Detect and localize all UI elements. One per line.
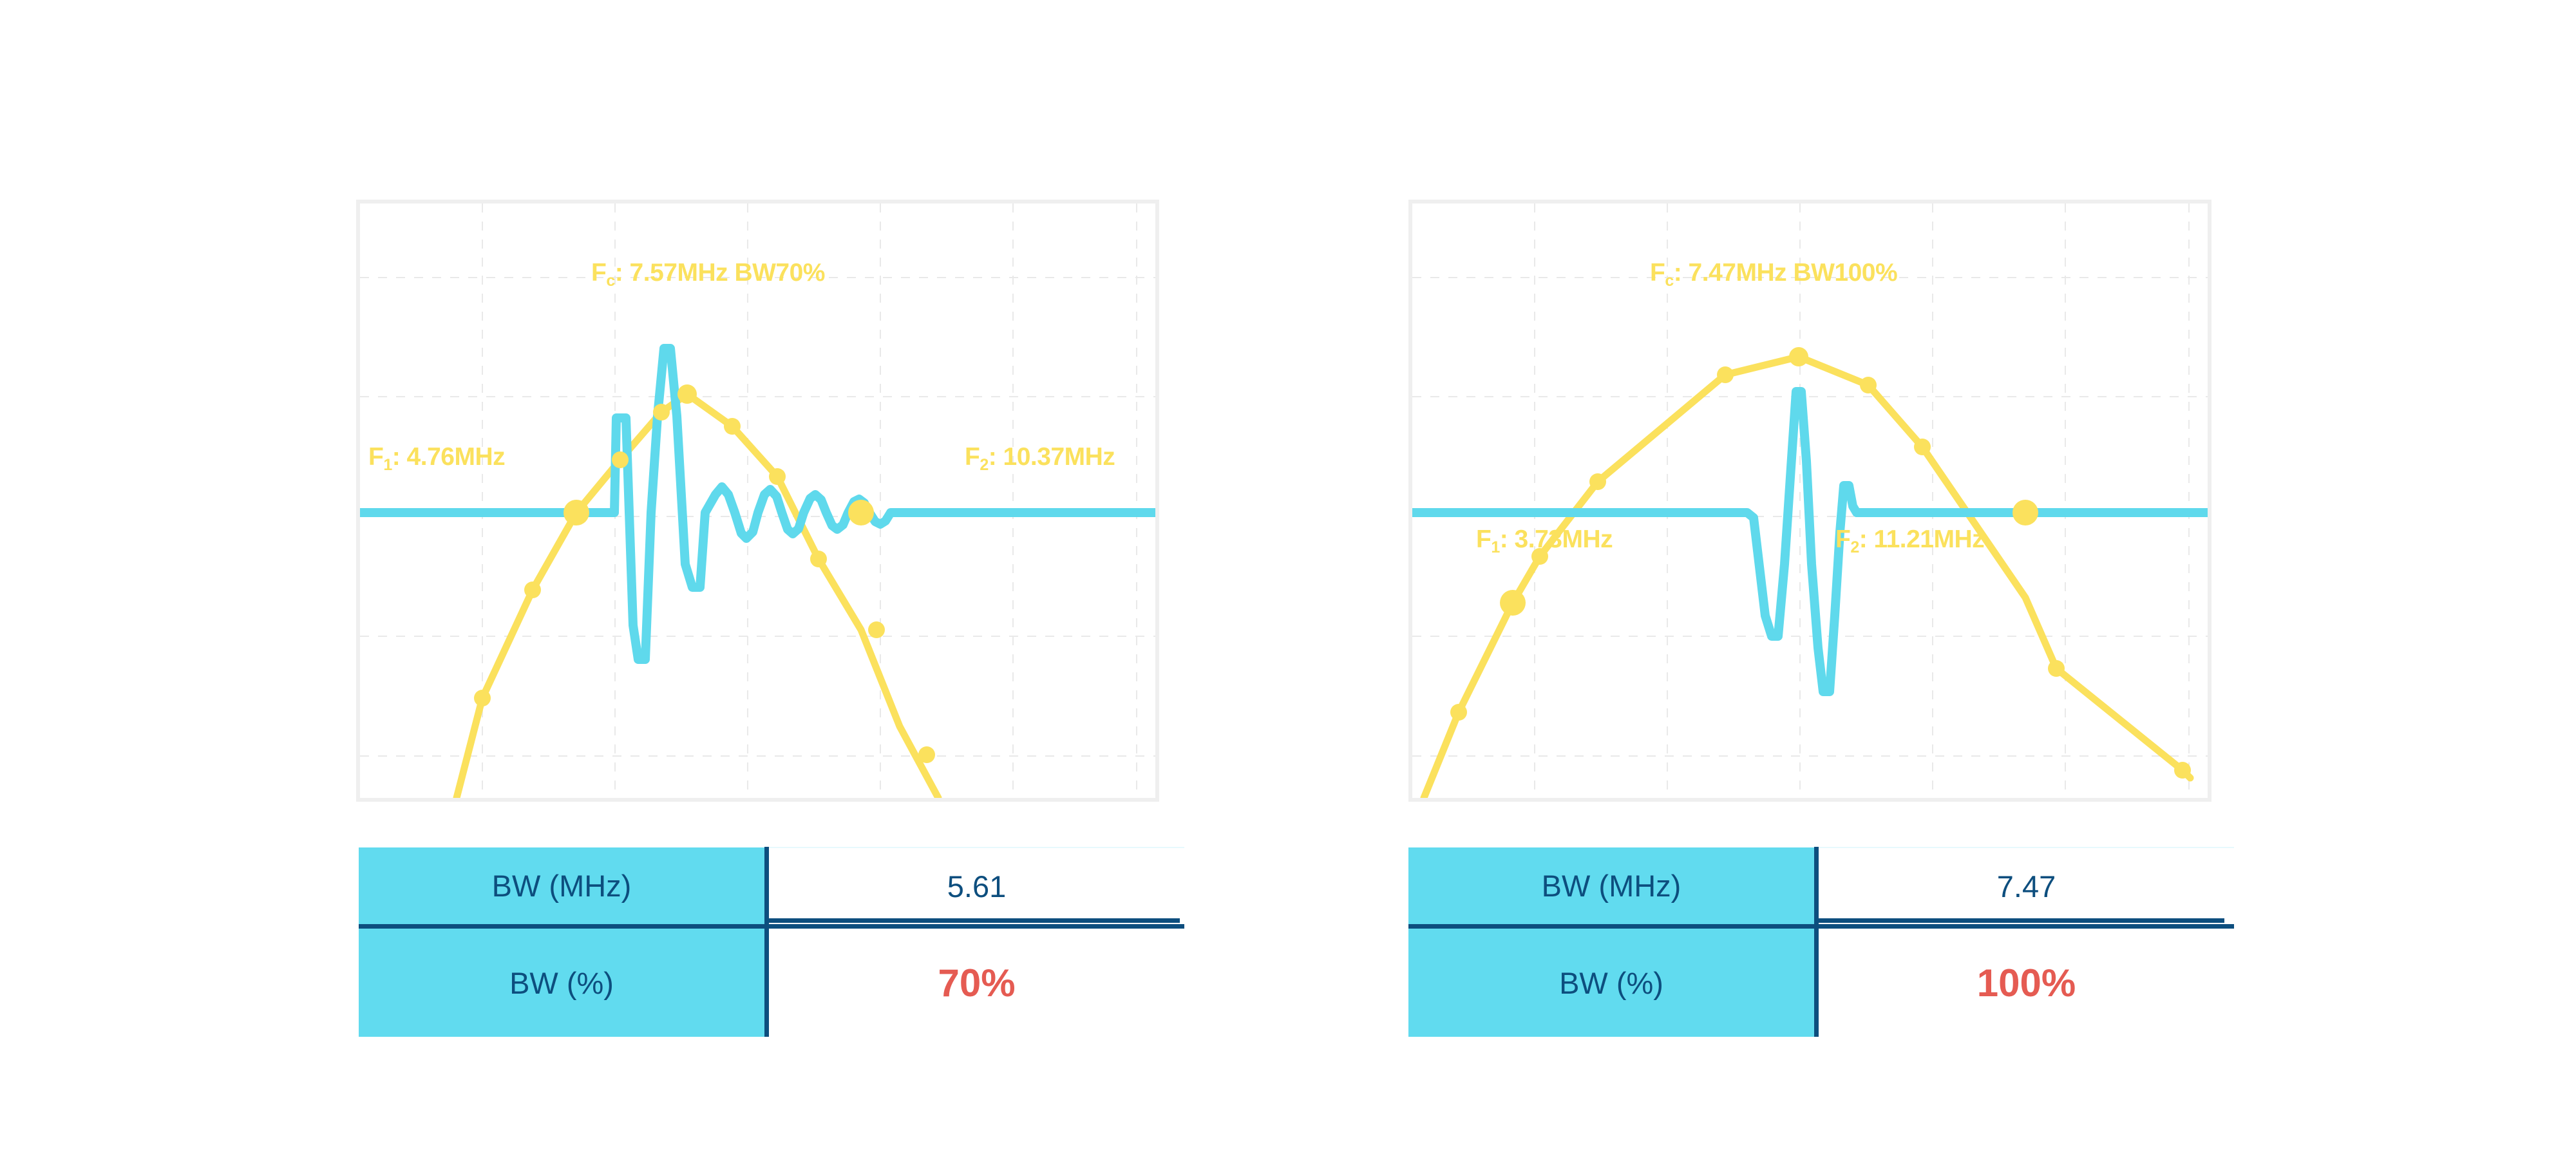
spectrum-chart-100-svg [1412,203,2208,798]
spectrum-chart-70 [356,200,1159,802]
table-row: BW (MHz) 7.47 [1408,847,2234,927]
fc-symbol: F [1650,259,1665,287]
table-divider-line [764,918,1180,923]
table-row: BW (%) 70% [359,927,1184,1037]
bw-mhz-value: 5.61 [947,869,1006,903]
bw-pct-value-cell: 100% [1817,927,2235,1037]
bandwidth-table-100: BW (MHz) 7.47 BW (%) 100% [1408,847,2234,1037]
table-row: BW (MHz) 5.61 [359,847,1184,927]
center-frequency-label-100: Fc: 7.47MHz BW100% [1650,260,1897,285]
fc-value: : 7.57MHz BW70% [615,259,825,287]
spectrum-chart-70-svg [360,203,1155,798]
spectrum-markers [1450,347,2191,779]
bw-pct-header: BW (%) [1408,927,1817,1037]
f2-subscript: 2 [980,456,988,474]
f1-value: : 3.73MHz [1500,525,1613,553]
bandwidth-panel-100: Fc: 7.47MHz BW100% F1: 3.73MHz F2: 11.21… [1288,0,2576,1154]
f1-symbol: F [1476,525,1491,553]
bw-pct-value-cell: 70% [767,927,1185,1037]
bandwidth-panel-70: Fc: 7.57MHz BW70% F1: 4.76MHz F2: 10.37M… [0,0,1288,1154]
f2-symbol: F [965,443,980,471]
pulse-waveform [360,348,1155,659]
f1-symbol: F [368,443,383,471]
bw-pct-value: 70% [938,961,1015,1005]
f1-value: : 4.76MHz [392,443,505,471]
bw-mhz-value: 7.47 [1997,869,2056,903]
fc-subscript: c [606,272,614,290]
bw-mhz-value-cell: 7.47 [1817,847,2235,927]
bw-mhz-value-cell: 5.61 [767,847,1185,927]
f2-symbol: F [1835,525,1850,553]
f1-subscript: 1 [383,456,392,474]
bw-pct-value: 100% [1977,961,2076,1005]
f2-value: : 10.37MHz [989,443,1115,471]
fc-subscript: c [1665,272,1673,290]
fc-value: : 7.47MHz BW100% [1674,259,1897,287]
upper-frequency-label-100: F2: 11.21MHz [1835,527,1984,552]
lower-frequency-label-100: F1: 3.73MHz [1476,527,1613,552]
f1-subscript: 1 [1491,538,1499,556]
fc-symbol: F [591,259,606,287]
lower-frequency-label-70: F1: 4.76MHz [368,444,505,469]
center-frequency-label-70: Fc: 7.57MHz BW70% [591,260,825,285]
table-divider-line [1814,918,2224,923]
bw-pct-header: BW (%) [359,927,767,1037]
upper-frequency-label-70: F2: 10.37MHz [965,444,1115,469]
bw-mhz-header: BW (MHz) [359,847,767,927]
bw-mhz-header: BW (MHz) [1408,847,1817,927]
f2-value: : 11.21MHz [1859,525,1984,553]
spectrum-chart-100 [1408,200,2211,802]
table-row: BW (%) 100% [1408,927,2234,1037]
bandwidth-table-70: BW (MHz) 5.61 BW (%) 70% [359,847,1184,1037]
f2-subscript: 2 [1850,538,1859,556]
